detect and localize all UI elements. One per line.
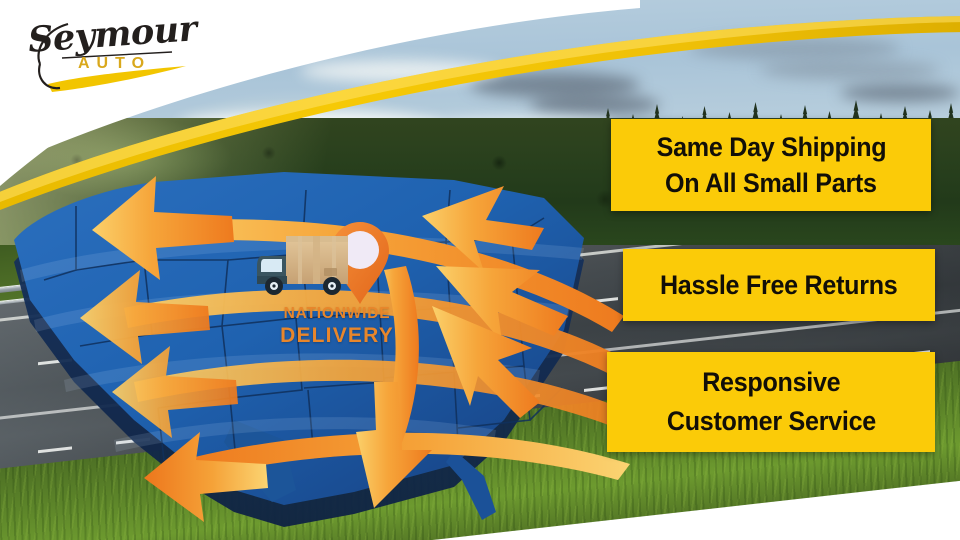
callout-responsive-customer-service[interactable]: Responsive Customer Service xyxy=(607,352,935,452)
callout-hassle-free-returns[interactable]: Hassle Free Returns xyxy=(623,249,935,321)
truck-and-pin-graphic xyxy=(252,216,422,316)
delivery-label: NATIONWIDE DELIVERY xyxy=(252,304,422,348)
brand-logo[interactable]: Seymour AUTO xyxy=(22,8,202,96)
callout-line: Hassle Free Returns xyxy=(660,268,898,302)
nationwide-delivery-badge: NATIONWIDE DELIVERY xyxy=(252,216,422,366)
logo-sub-wordmark: AUTO xyxy=(78,55,151,73)
callout-line: Same Day Shipping xyxy=(656,129,886,165)
delivery-label-line1: NATIONWIDE xyxy=(284,305,391,322)
delivery-label-line2: DELIVERY xyxy=(280,324,394,347)
callout-line: Customer Service xyxy=(666,402,875,441)
callout-same-day-shipping[interactable]: Same Day Shipping On All Small Parts xyxy=(611,119,931,211)
promo-banner: NATIONWIDE DELIVERY Seymour AUTO Same Da… xyxy=(0,0,960,540)
delivery-truck-icon xyxy=(257,236,348,295)
callout-line: Responsive xyxy=(702,363,840,402)
callout-line: On All Small Parts xyxy=(665,165,877,201)
